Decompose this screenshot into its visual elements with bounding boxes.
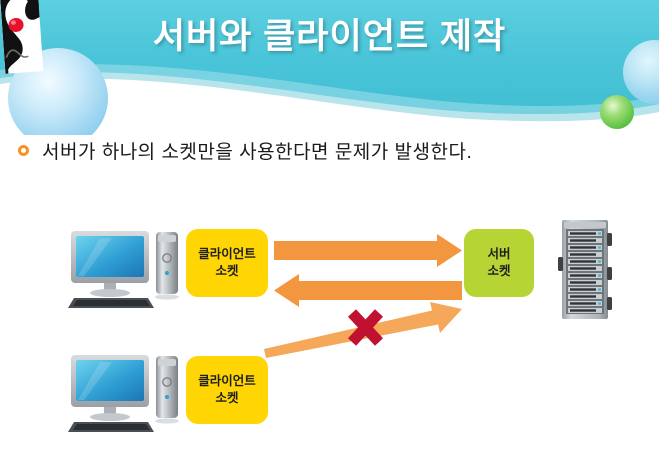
client-pc-top-icon [68, 228, 180, 310]
page-title: 서버와 클라이언트 제작 [0, 8, 659, 59]
arrow-second-client-blocked [264, 302, 462, 358]
bullet-row: 서버가 하나의 소켓만을 사용한다면 문제가 발생한다. [18, 137, 472, 164]
server-socket-label-1: 서버 [487, 246, 510, 263]
client-socket-bottom-label-1: 클라이언트 [198, 373, 256, 390]
client-socket-bottom-box[interactable]: 클라이언트 소켓 [186, 356, 268, 424]
bullet-text: 서버가 하나의 소켓만을 사용한다면 문제가 발생한다. [42, 137, 472, 164]
server-socket-label-2: 소켓 [487, 263, 510, 280]
red-x-icon [352, 313, 379, 342]
socket-diagram: 클라이언트 소켓 서버 소켓 [0, 0, 659, 474]
ring-bullet-icon [18, 145, 29, 156]
arrow-server-to-client [274, 274, 462, 307]
server-socket-box[interactable]: 서버 소켓 [464, 229, 534, 297]
java-duke-logo [0, 0, 43, 74]
client-socket-top-box[interactable]: 클라이언트 소켓 [186, 229, 268, 297]
arrow-client-to-server [274, 234, 462, 267]
client-socket-top-label-2: 소켓 [215, 263, 238, 280]
client-socket-top-label-1: 클라이언트 [198, 246, 256, 263]
client-socket-bottom-label-2: 소켓 [215, 390, 238, 407]
server-rack-icon [558, 219, 612, 321]
client-pc-bottom-icon [68, 352, 180, 434]
